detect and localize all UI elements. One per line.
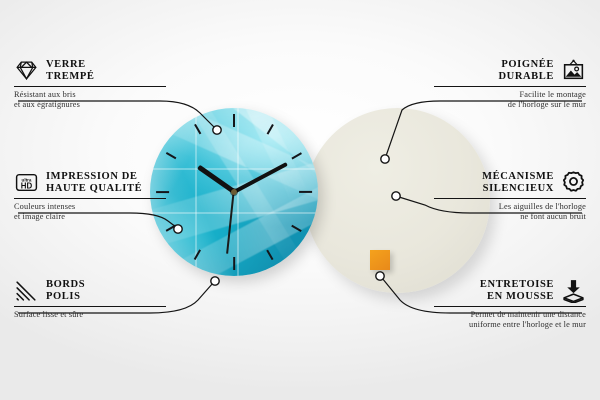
feature-description: Permet de maintenir une distance uniform… <box>434 310 586 330</box>
divider <box>434 306 586 307</box>
clock-center-cap <box>231 189 237 195</box>
polished-edges-icon <box>14 278 39 303</box>
feature-description: Couleurs intenses et image claire <box>14 202 166 222</box>
feature-description: Les aiguilles de l'horloge ne font aucun… <box>434 202 586 222</box>
infographic-stage: VERRE TREMPÉ Résistant aux bris et aux é… <box>0 0 600 400</box>
gear-icon <box>561 170 586 195</box>
feature-verre-trempe: VERRE TREMPÉ Résistant aux bris et aux é… <box>14 58 166 110</box>
foam-spacer <box>370 250 390 270</box>
feature-title: IMPRESSION DE HAUTE QUALITÉ <box>46 171 166 195</box>
feature-description: Surface lisse et sûre <box>14 310 166 320</box>
ultra-hd-icon: ultra HD <box>14 170 39 195</box>
svg-text:HD: HD <box>21 181 33 190</box>
feature-description: Facilite le montage de l'horloge sur le … <box>434 90 586 110</box>
feature-bords-polis: BORDS POLIS Surface lisse et sûre <box>14 278 166 320</box>
divider <box>434 198 586 199</box>
feature-title: BORDS POLIS <box>46 279 166 303</box>
feature-title: MÉCANISME SILENCIEUX <box>434 171 554 195</box>
foam-spacer-icon <box>561 278 586 303</box>
feature-impression-haute-qualite: ultra HD IMPRESSION DE HAUTE QUALITÉ Cou… <box>14 170 166 222</box>
divider <box>434 86 586 87</box>
picture-hanger-icon <box>561 58 586 83</box>
feature-description: Résistant aux bris et aux égratignures <box>14 90 166 110</box>
divider <box>14 198 166 199</box>
feature-poignee-durable: POIGNÉE DURABLE Facilite le montage de l… <box>434 58 586 110</box>
divider <box>14 306 166 307</box>
feature-title: ENTRETOISE EN MOUSSE <box>434 279 554 303</box>
feature-title: VERRE TREMPÉ <box>46 59 166 83</box>
divider <box>14 86 166 87</box>
feature-mecanisme-silencieux: MÉCANISME SILENCIEUX Les aiguilles de l'… <box>434 170 586 222</box>
feature-title: POIGNÉE DURABLE <box>434 59 554 83</box>
clock-front-view <box>150 108 318 276</box>
feature-entretoise-en-mousse: ENTRETOISE EN MOUSSE Permet de maintenir… <box>434 278 586 330</box>
diamond-icon <box>14 58 39 83</box>
